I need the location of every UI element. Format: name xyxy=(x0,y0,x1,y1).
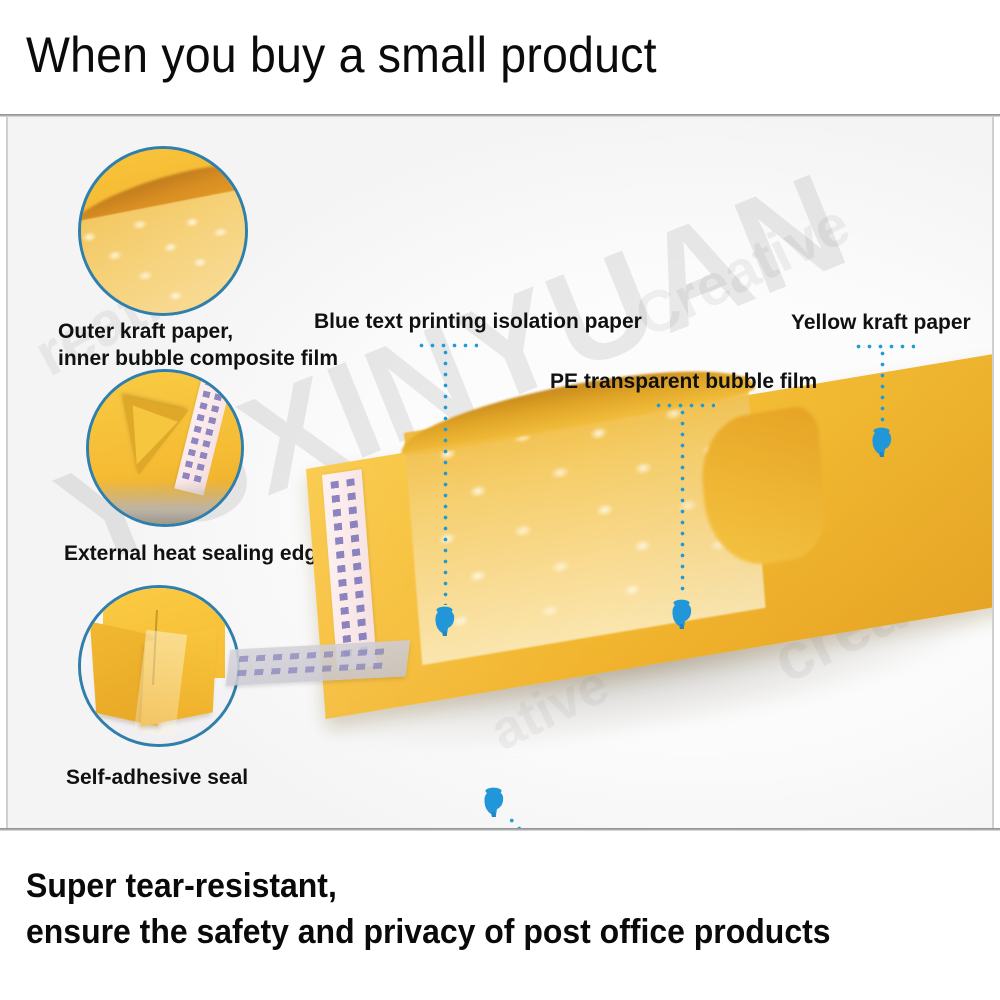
page-title: When you buy a small product xyxy=(26,26,657,84)
leader-line-vertical-1 xyxy=(443,347,448,605)
detail-caption-self-adhesive-seal: Self-adhesive seal xyxy=(66,765,248,792)
detail-photo-self-adhesive-seal xyxy=(78,585,240,747)
hand-pointer-icon xyxy=(869,419,895,457)
detail-photo-outer-kraft-paper xyxy=(78,146,248,316)
callout-label-blue-text-printing-isolation-paper: Blue text printing isolation paper xyxy=(314,310,642,334)
leader-line-vertical-2 xyxy=(680,407,685,597)
header-banner: When you buy a small product xyxy=(0,0,1000,114)
footer-banner: Super tear-resistant, ensure the safety … xyxy=(0,831,1000,1000)
hand-pointer-icon xyxy=(481,779,507,817)
hand-pointer-icon xyxy=(432,598,458,636)
callout-label-yellow-kraft-paper: Yellow kraft paper xyxy=(791,311,971,335)
hand-pointer-icon xyxy=(669,591,695,629)
callout-label-pe-transparent-bubble-film: PE transparent bubble film xyxy=(550,370,817,394)
drop-shadow xyxy=(86,481,244,527)
footer-headline-line-1: Super tear-resistant, xyxy=(26,867,337,906)
leader-line-vertical-3 xyxy=(880,348,885,426)
footer-headline-line-2: ensure the safety and privacy of post of… xyxy=(26,913,831,952)
product-illustration-panel: YUXINYUAN reative Creative creati ative … xyxy=(6,117,994,828)
detail-caption-outer-kraft-paper: Outer kraft paper, inner bubble composit… xyxy=(58,319,338,373)
detail-photo-heat-sealing-edge xyxy=(86,369,244,527)
